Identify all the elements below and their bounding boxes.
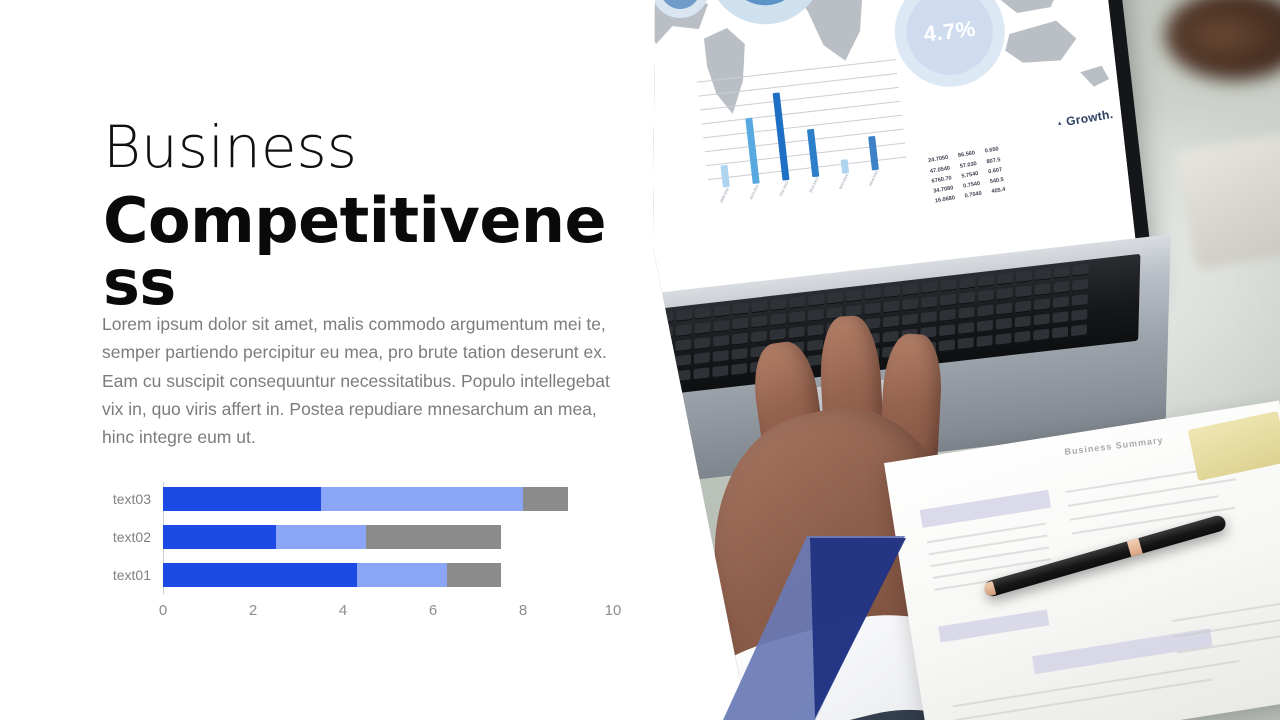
page-title-line1: Business	[103, 118, 357, 176]
mini-bar-label: 2010-2011	[749, 184, 759, 200]
notebook-band	[938, 609, 1049, 642]
mini-bar-label: 2014-2015	[868, 170, 879, 186]
growth-column: 0.650 807.5 0.607 540.5 405.4	[984, 146, 1006, 196]
category-label-text03: text03	[113, 487, 151, 511]
growth-cell: 0.607	[988, 166, 1003, 176]
growth-cell: 405.4	[991, 186, 1006, 196]
mini-bar	[773, 92, 790, 180]
mini-bar-label: 2009-2010	[719, 187, 730, 203]
bar-segment-series3	[366, 525, 501, 549]
x-tick-label: 2	[249, 602, 257, 619]
bar-segment-series1	[163, 525, 276, 549]
laptop-mini-bar-chart: 2009-2010 2010-2011 2011-2012 2012-2013 …	[696, 55, 909, 207]
bar-segment-series1	[163, 563, 357, 587]
growth-cell: 57.030	[959, 160, 977, 171]
chart-plot-area: text03 text02 text01	[163, 482, 613, 594]
bar-segment-series2	[357, 563, 447, 587]
bar-segment-series2	[321, 487, 524, 511]
growth-cell: 0.7040	[964, 190, 982, 201]
mini-bar	[868, 136, 879, 171]
growth-cell: 86.560	[958, 150, 976, 161]
x-tick-label: 8	[519, 602, 527, 619]
bar-segment-series3	[447, 563, 501, 587]
growth-cell: 16.0680	[934, 194, 955, 205]
mini-bar-label: 2013-2014	[838, 174, 849, 190]
notebook-band	[920, 490, 1051, 528]
mini-bar-label: 2012-2013	[809, 177, 820, 193]
left-content: Business Competitiveness Lorem ipsum dol…	[0, 0, 660, 720]
bar-segment-series3	[523, 487, 568, 511]
slide-canvas: ARE 10.8% 7.0% 0.4% 4.7% 5.1%	[0, 0, 1280, 720]
pen-ring	[1127, 538, 1143, 557]
body-paragraph: Lorem ipsum dolor sit amet, malis commod…	[102, 310, 632, 452]
category-label-text02: text02	[113, 525, 151, 549]
growth-cell: 540.5	[989, 176, 1004, 186]
bar-segment-series1	[163, 487, 321, 511]
page-title-line2: Competitiveness	[103, 190, 633, 314]
competitiveness-bar-chart: text03 text02 text01	[100, 482, 640, 642]
table-row: text03	[163, 487, 613, 511]
notebook-title: Business Summary	[1064, 435, 1164, 457]
table-row: text01	[163, 563, 613, 587]
x-tick-label: 10	[605, 602, 622, 619]
x-tick-label: 0	[159, 602, 167, 619]
category-label-text01: text01	[113, 563, 151, 587]
table-row: text02	[163, 525, 613, 549]
growth-triangle-icon: ▲	[1056, 119, 1063, 128]
growth-cell: 807.5	[986, 156, 1001, 166]
x-tick-label: 6	[429, 602, 437, 619]
growth-cell: 5.7540	[961, 170, 979, 181]
bar-segment-series2	[276, 525, 366, 549]
chart-x-axis: 0 2 4 6 8 10	[163, 602, 613, 626]
mini-bar	[841, 159, 850, 174]
growth-column: 86.560 57.030 5.7540 0.7540 0.7040	[958, 150, 983, 201]
growth-column: 24.7050 47.0540 6760.70 34.7080 16.0680	[928, 154, 956, 205]
mini-bar-label: 2011-2012	[779, 181, 789, 197]
mini-bar	[720, 165, 729, 188]
x-tick-label: 4	[339, 602, 347, 619]
growth-cell: 0.650	[984, 146, 999, 156]
growth-cell: 0.7540	[963, 180, 981, 191]
